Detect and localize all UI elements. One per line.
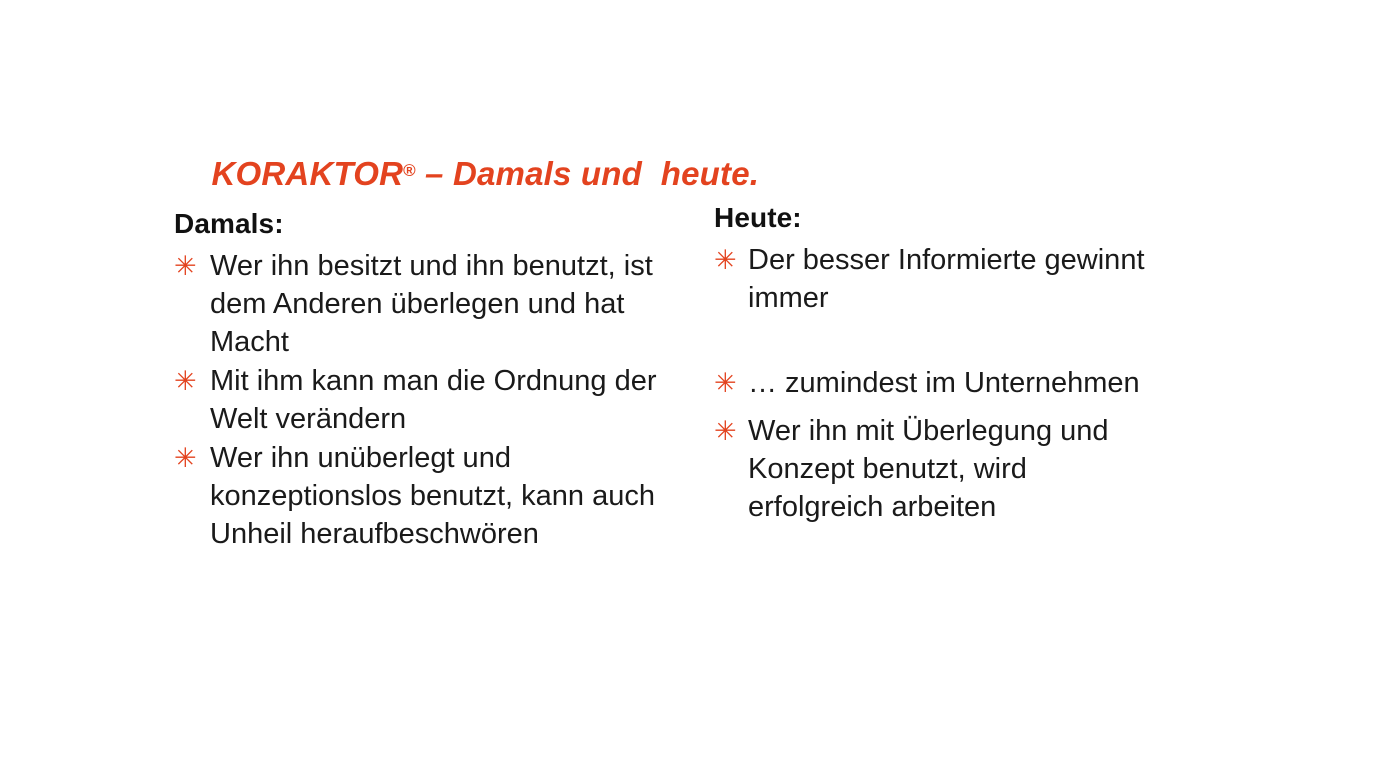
list-item: ✳ Der besser Informierte gewinnt immer xyxy=(714,241,1164,317)
list-item: ✳ Mit ihm kann man die Ordnung der Welt … xyxy=(174,362,694,438)
list-item-text: Wer ihn besitzt und ihn benutzt, ist dem… xyxy=(210,247,694,361)
list-item: ✳ Wer ihn besitzt und ihn benutzt, ist d… xyxy=(174,247,694,361)
asterisk-bullet-icon: ✳ xyxy=(714,412,740,450)
column-damals: Damals: ✳ Wer ihn besitzt und ihn benutz… xyxy=(174,206,694,554)
column-heute: Heute: ✳ Der besser Informierte gewinnt … xyxy=(714,200,1164,536)
list-item: ✳ Wer ihn mit Überlegung und Konzept ben… xyxy=(714,412,1164,526)
slide-canvas: KORAKTOR® – Damals und heute. Damals: ✳ … xyxy=(0,0,1380,780)
bullet-list-heute: ✳ Der besser Informierte gewinnt immer ✳… xyxy=(714,241,1164,526)
column-heading-heute: Heute: xyxy=(714,200,1164,235)
list-item: ✳ Wer ihn unüberlegt und konzeptionslos … xyxy=(174,439,694,553)
list-item: ✳ … zumindest im Unternehmen xyxy=(714,364,1164,402)
asterisk-bullet-icon: ✳ xyxy=(174,247,200,285)
asterisk-bullet-icon: ✳ xyxy=(174,362,200,400)
asterisk-bullet-icon: ✳ xyxy=(174,439,200,477)
list-item-text: … zumindest im Unternehmen xyxy=(748,364,1164,402)
bullet-list-damals: ✳ Wer ihn besitzt und ihn benutzt, ist d… xyxy=(174,247,694,553)
list-item-text: Mit ihm kann man die Ordnung der Welt ve… xyxy=(210,362,694,438)
list-item-text: Wer ihn unüberlegt und konzeptionslos be… xyxy=(210,439,694,553)
content-columns: Damals: ✳ Wer ihn besitzt und ihn benutz… xyxy=(0,0,1380,780)
column-heading-damals: Damals: xyxy=(174,206,694,241)
list-item-text: Wer ihn mit Überlegung und Konzept benut… xyxy=(748,412,1164,526)
asterisk-bullet-icon: ✳ xyxy=(714,241,740,279)
asterisk-bullet-icon: ✳ xyxy=(714,364,740,402)
list-item-text: Der besser Informierte gewinnt immer xyxy=(748,241,1164,317)
